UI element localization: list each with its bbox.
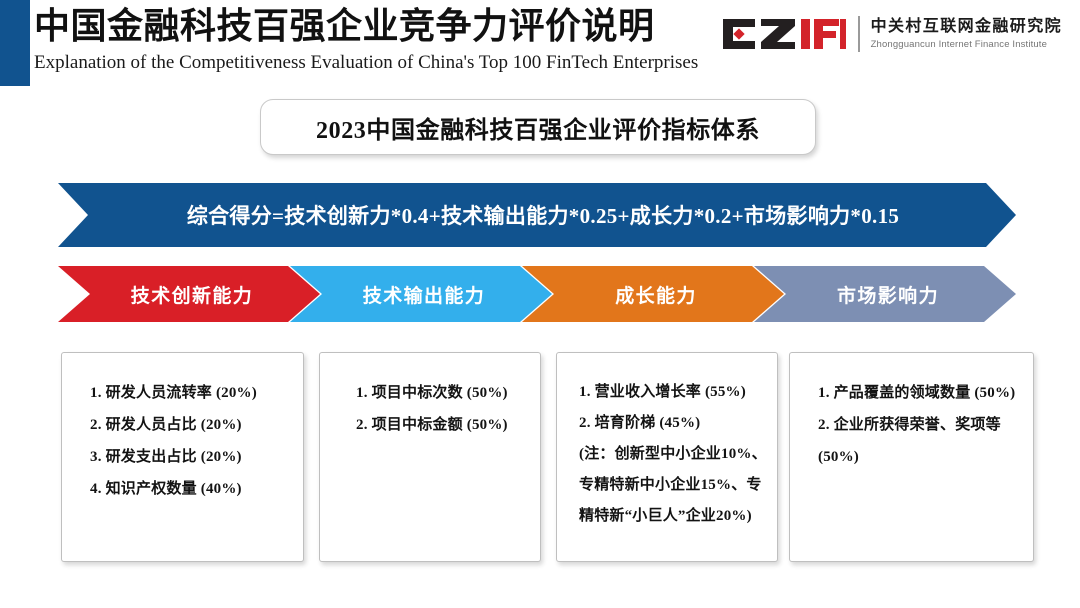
organization-logo: 中关村互联网金融研究院 Zhongguancun Internet Financ… xyxy=(721,10,1062,58)
indicator-item: 1. 产品覆盖的领域数量 (50%) xyxy=(804,377,1019,409)
indicator-item: 2. 培育阶梯 (45%) xyxy=(571,408,763,439)
indicator-note: 专精特新中小企业15%、专 xyxy=(571,470,763,501)
pillar-chevron-technology-innovation[interactable]: 技术创新能力 xyxy=(58,266,320,322)
logo-wordmark: 中关村互联网金融研究院 Zhongguancun Internet Financ… xyxy=(871,17,1062,51)
indicator-item: 1. 研发人员流转率 (20%) xyxy=(76,377,289,409)
indicator-system-title-text: 2023中国金融科技百强企业评价指标体系 xyxy=(316,110,760,145)
pillar-chevron-technology-output[interactable]: 技术输出能力 xyxy=(290,266,552,322)
page-title: 中国金融科技百强企业竞争力评价说明 xyxy=(34,4,734,48)
pillar-label: 成长能力 xyxy=(522,266,784,322)
pillar-chevron-market-influence[interactable]: 市场影响力 xyxy=(754,266,1016,322)
indicator-item: 3. 研发支出占比 (20%) xyxy=(76,441,289,473)
indicator-item: (50%) xyxy=(804,441,1019,473)
indicator-item: 4. 知识产权数量 (40%) xyxy=(76,473,289,505)
indicator-item: 2. 企业所获得荣誉、奖项等 xyxy=(804,409,1019,441)
indicator-detail-card-row: 1. 研发人员流转率 (20%) 2. 研发人员占比 (20%) 3. 研发支出… xyxy=(0,352,1080,564)
pillar-label: 市场影响力 xyxy=(754,266,1016,322)
indicator-card-growth: 1. 营业收入增长率 (55%) 2. 培育阶梯 (45%) (注：创新型中小企… xyxy=(556,352,778,562)
composite-score-formula-banner: 综合得分=技术创新力*0.4+技术输出能力*0.25+成长力*0.2+市场影响力… xyxy=(58,183,1016,247)
indicator-card-technology-output: 1. 项目中标次数 (50%) 2. 项目中标金额 (50%) xyxy=(319,352,541,562)
page-header: 中国金融科技百强企业竞争力评价说明 Explanation of the Com… xyxy=(0,0,1080,90)
pillar-chevron-row: 技术创新能力 技术输出能力 成长能力 市场影响力 xyxy=(58,266,1016,322)
composite-score-formula-text: 综合得分=技术创新力*0.4+技术输出能力*0.25+成长力*0.2+市场影响力… xyxy=(58,183,1016,247)
indicator-note: (注：创新型中小企业10%、 xyxy=(571,439,763,470)
pillar-label: 技术输出能力 xyxy=(290,266,552,322)
logo-org-name-en: Zhongguancun Internet Finance Institute xyxy=(871,38,1062,51)
pillar-chevron-growth[interactable]: 成长能力 xyxy=(522,266,784,322)
header-accent-bar xyxy=(0,0,30,86)
page-subtitle: Explanation of the Competitiveness Evalu… xyxy=(34,50,734,76)
czifi-logomark-icon xyxy=(721,17,847,51)
indicator-note: 精特新“小巨人”企业20%) xyxy=(571,501,763,532)
indicator-item: 2. 项目中标金额 (50%) xyxy=(334,409,526,441)
indicator-card-market-influence: 1. 产品覆盖的领域数量 (50%) 2. 企业所获得荣誉、奖项等 (50%) xyxy=(789,352,1034,562)
indicator-system-title-box: 2023中国金融科技百强企业评价指标体系 xyxy=(260,99,816,155)
header-text-block: 中国金融科技百强企业竞争力评价说明 Explanation of the Com… xyxy=(34,4,734,76)
logo-org-name-cn: 中关村互联网金融研究院 xyxy=(871,17,1062,36)
indicator-card-technology-innovation: 1. 研发人员流转率 (20%) 2. 研发人员占比 (20%) 3. 研发支出… xyxy=(61,352,304,562)
logo-divider xyxy=(858,16,860,52)
indicator-item: 2. 研发人员占比 (20%) xyxy=(76,409,289,441)
indicator-item: 1. 项目中标次数 (50%) xyxy=(334,377,526,409)
indicator-item: 1. 营业收入增长率 (55%) xyxy=(571,377,763,408)
pillar-label: 技术创新能力 xyxy=(58,266,320,322)
